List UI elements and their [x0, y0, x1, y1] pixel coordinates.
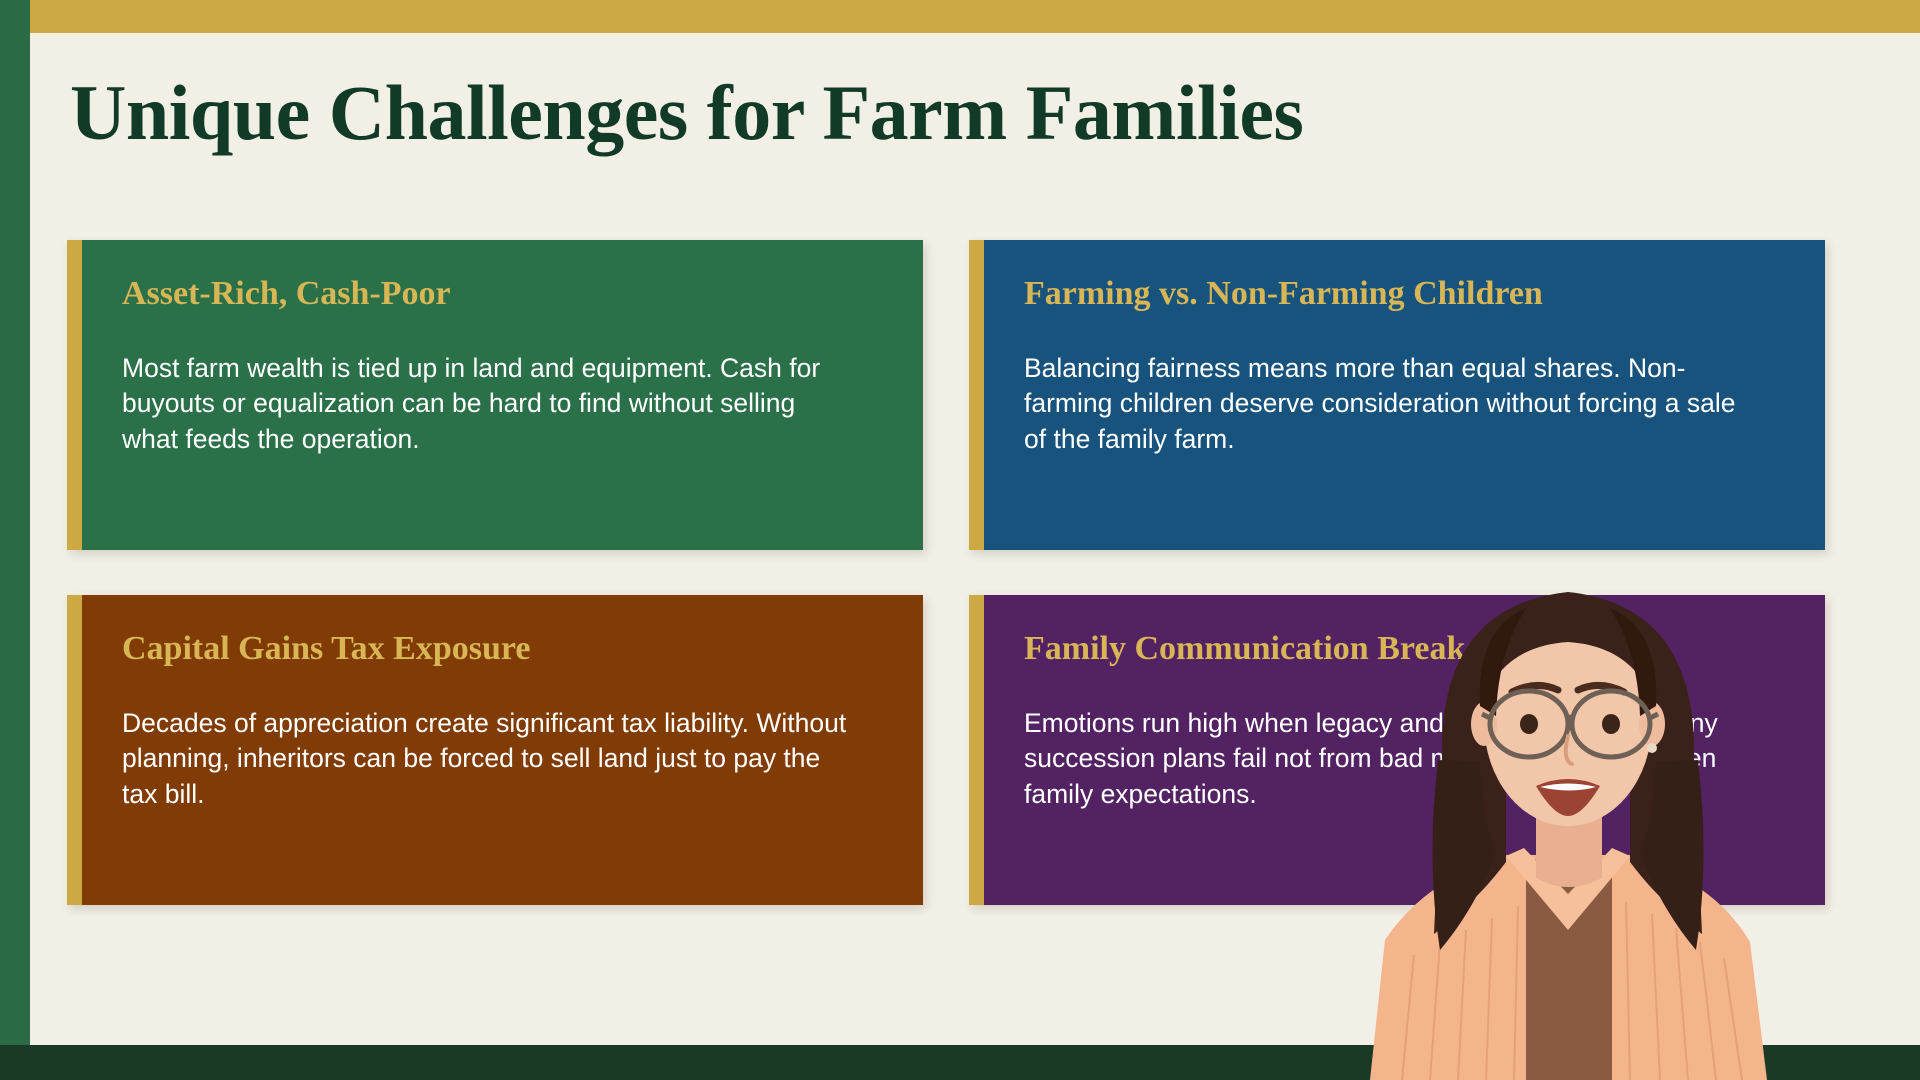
- card-body: Emotions run high when legacy and money …: [1024, 706, 1754, 812]
- footer-accent-bar: [0, 1045, 1920, 1080]
- card-body: Most farm wealth is tied up in land and …: [122, 351, 852, 457]
- page-title: Unique Challenges for Farm Families: [70, 72, 1830, 154]
- card-family-communication-breakdowns: Family Communication Breakdowns Emotions…: [969, 595, 1825, 905]
- card-body: Balancing fairness means more than equal…: [1024, 351, 1754, 457]
- card-title: Farming vs. Non-Farming Children: [1024, 274, 1785, 313]
- challenge-card-grid: Asset-Rich, Cash-Poor Most farm wealth i…: [67, 240, 1825, 905]
- card-capital-gains-tax-exposure: Capital Gains Tax Exposure Decades of ap…: [67, 595, 923, 905]
- card-title: Family Communication Breakdowns: [1024, 629, 1785, 668]
- left-accent-bar: [0, 0, 30, 1045]
- card-asset-rich-cash-poor: Asset-Rich, Cash-Poor Most farm wealth i…: [67, 240, 923, 550]
- card-farming-vs-non-farming-children: Farming vs. Non-Farming Children Balanci…: [969, 240, 1825, 550]
- card-title: Capital Gains Tax Exposure: [122, 629, 883, 668]
- slide-canvas: Unique Challenges for Farm Families Asse…: [0, 0, 1920, 1080]
- card-title: Asset-Rich, Cash-Poor: [122, 274, 883, 313]
- top-accent-bar: [30, 0, 1920, 33]
- card-body: Decades of appreciation create significa…: [122, 706, 852, 812]
